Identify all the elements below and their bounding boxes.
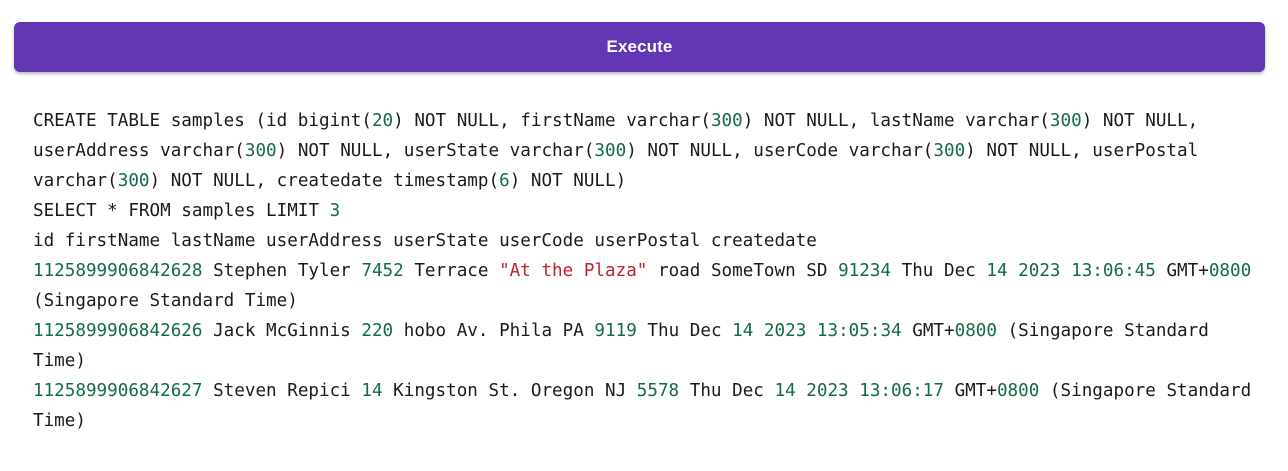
token-txt: Thu Dec [679,381,774,401]
token-txt: ) NOT NULL, createdate timestamp( [150,171,500,191]
token-num: 0800 [997,381,1039,401]
token-num: 0800 [955,321,997,341]
token-num: 1125899906842627 [33,381,202,401]
token-str: "At the Plaza" [499,261,647,281]
token-txt: GMT+ [1156,261,1209,281]
token-txt: SELECT * FROM samples LIMIT [33,201,330,221]
token-txt: CREATE TABLE samples (id bigint( [33,111,372,131]
token-num: 0800 [1209,261,1251,281]
token-num: 14 [986,261,1007,281]
token-txt: id firstName lastName userAddress userSt… [33,231,817,251]
token-txt: Steven Repici [202,381,361,401]
token-txt [796,381,807,401]
token-txt: hobo Av. Phila PA [393,321,594,341]
token-num: 13:05:34 [817,321,902,341]
token-txt: ) NOT NULL) [510,171,627,191]
token-txt: Thu Dec [637,321,732,341]
token-txt [806,321,817,341]
token-num: 2023 [1018,261,1060,281]
token-txt [849,381,860,401]
token-num: 5578 [637,381,679,401]
token-num: 13:06:17 [859,381,944,401]
token-num: 13:06:45 [1071,261,1156,281]
token-num: 2023 [764,321,806,341]
token-txt: GMT+ [902,321,955,341]
token-num: 7452 [361,261,403,281]
token-txt: ) NOT NULL, lastName varchar( [743,111,1050,131]
token-txt: ) NOT NULL, userState varchar( [277,141,595,161]
select-statement: SELECT * FROM samples LIMIT 3 [33,196,1260,226]
token-num: 20 [372,111,393,131]
token-num: 300 [118,171,150,191]
token-num: 14 [775,381,796,401]
page-root: Execute CREATE TABLE samples (id bigint(… [0,0,1288,471]
token-num: 1125899906842628 [33,261,202,281]
token-txt [1061,261,1072,281]
token-num: 220 [361,321,393,341]
query-output-console: CREATE TABLE samples (id bigint(20) NOT … [0,72,1288,436]
token-txt: Jack McGinnis [202,321,361,341]
token-num: 300 [594,141,626,161]
token-num: 300 [933,141,965,161]
token-num: 6 [499,171,510,191]
token-txt: GMT+ [944,381,997,401]
token-txt: road SomeTown SD [647,261,838,281]
token-num: 14 [732,321,753,341]
data-row-2: 1125899906842626 Jack McGinnis 220 hobo … [33,316,1260,376]
token-num: 2023 [806,381,848,401]
column-header-row: id firstName lastName userAddress userSt… [33,226,1260,256]
data-row-3: 1125899906842627 Steven Repici 14 Kingst… [33,376,1260,436]
token-txt: ) NOT NULL, firstName varchar( [393,111,711,131]
execute-button[interactable]: Execute [14,22,1265,72]
token-txt: Terrace [404,261,499,281]
token-txt: Thu Dec [891,261,986,281]
token-num: 300 [245,141,277,161]
token-txt [753,321,764,341]
token-num: 1125899906842626 [33,321,202,341]
token-num: 300 [711,111,743,131]
execute-bar: Execute [0,0,1288,72]
token-txt: Stephen Tyler [202,261,361,281]
token-txt [1008,261,1019,281]
token-num: 14 [361,381,382,401]
create-table-statement: CREATE TABLE samples (id bigint(20) NOT … [33,106,1260,196]
token-txt: Kingston St. Oregon NJ [383,381,637,401]
token-num: 91234 [838,261,891,281]
token-num: 300 [1050,111,1082,131]
token-num: 9119 [594,321,636,341]
data-row-1: 1125899906842628 Stephen Tyler 7452 Terr… [33,256,1260,316]
token-txt: ) NOT NULL, userCode varchar( [626,141,933,161]
token-num: 3 [330,201,341,221]
